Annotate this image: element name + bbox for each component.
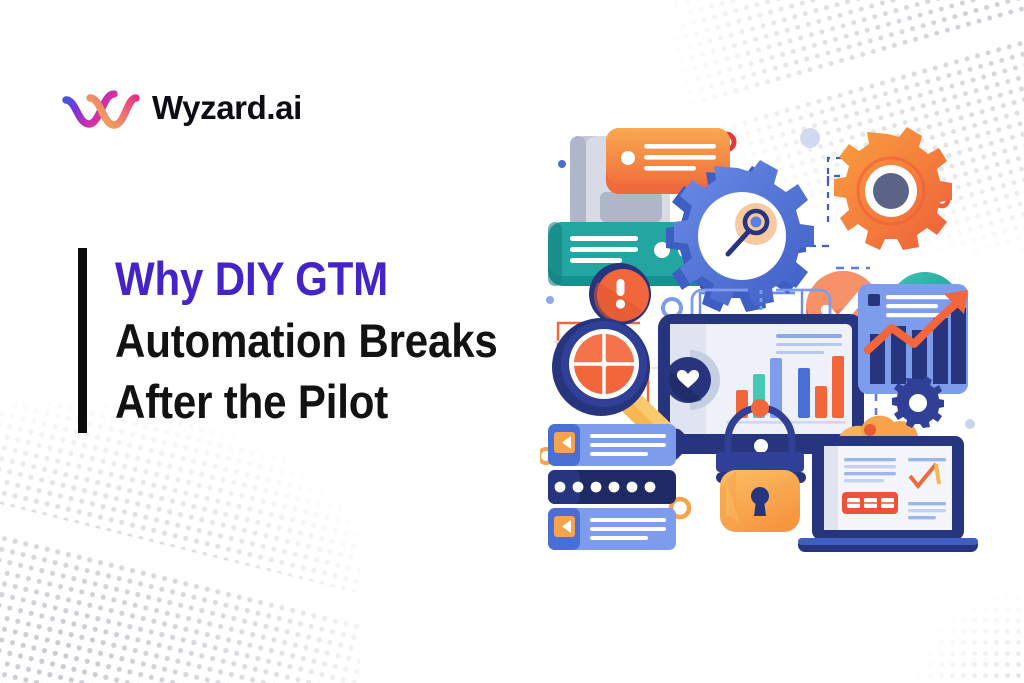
headline-block: Why DIY GTM Automation Breaks After the …	[78, 248, 543, 433]
brand-logo[interactable]: Wyzard.ai	[62, 84, 302, 130]
banner-canvas: Wyzard.ai Why DIY GTM Automation Breaks …	[0, 0, 1024, 683]
halftone-texture-bottom-right	[914, 593, 1024, 683]
server-rack-stack	[548, 424, 676, 550]
page-title: Why DIY GTM Automation Breaks After the …	[115, 248, 498, 433]
headline-line-1: Why DIY GTM	[115, 248, 498, 310]
headline-line-3: After the Pilot	[115, 371, 498, 433]
laptop-dashboard	[798, 436, 978, 552]
gtm-automation-tech-collage-illustration	[540, 118, 990, 558]
orange-gear	[834, 127, 952, 250]
headline-line-2: Automation Breaks	[115, 310, 498, 372]
headline-accent-bar	[78, 248, 87, 433]
line-chart-card	[858, 284, 968, 394]
alert-exclamation-badge	[589, 263, 651, 325]
brand-wordmark: Wyzard.ai	[152, 91, 302, 124]
halftone-texture-bottom-left	[0, 403, 360, 683]
wyzard-wave-w-icon	[62, 84, 142, 130]
